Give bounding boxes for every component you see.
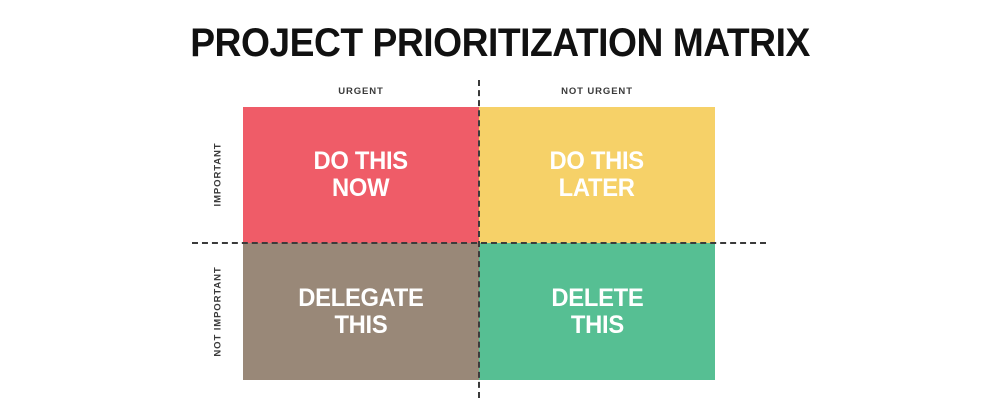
quadrant-label-do-this-later: DO THIS LATER bbox=[550, 148, 644, 202]
quadrant-delete-this[interactable]: DELETE THIS bbox=[479, 243, 715, 380]
quadrant-do-this-later[interactable]: DO THIS LATER bbox=[479, 107, 715, 243]
column-header-urgent: URGENT bbox=[243, 86, 479, 98]
quadrant-label-do-this-now: DO THIS NOW bbox=[314, 148, 408, 202]
column-header-not-urgent: NOT URGENT bbox=[479, 86, 715, 98]
quadrant-do-this-now[interactable]: DO THIS NOW bbox=[243, 107, 479, 243]
prioritization-matrix-infographic: PROJECT PRIORITIZATION MATRIX URGENT NOT… bbox=[0, 0, 1000, 400]
row-header-important: IMPORTANT bbox=[213, 107, 224, 243]
quadrant-label-delegate-this: DELEGATE THIS bbox=[298, 285, 423, 339]
quadrant-delegate-this[interactable]: DELEGATE THIS bbox=[243, 243, 479, 380]
row-header-not-important: NOT IMPORTANT bbox=[213, 244, 224, 380]
vertical-divider-line bbox=[478, 80, 480, 398]
quadrant-label-delete-this: DELETE THIS bbox=[551, 285, 643, 339]
page-title: PROJECT PRIORITIZATION MATRIX bbox=[35, 20, 965, 66]
